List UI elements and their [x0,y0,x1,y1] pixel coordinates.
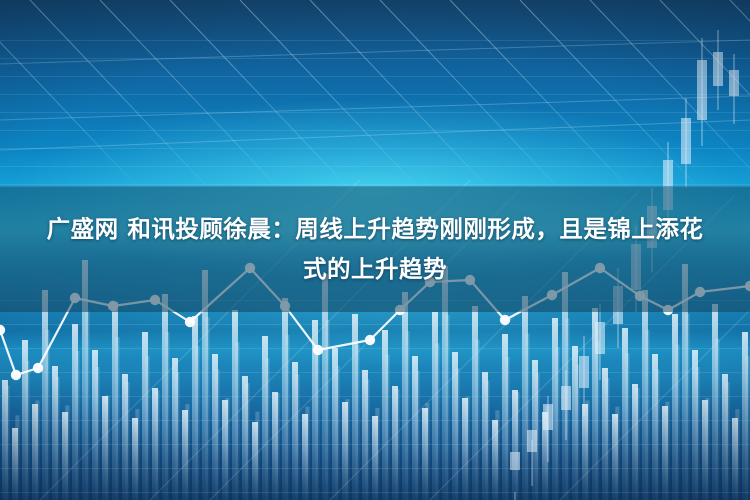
trend-point-marker [313,345,323,355]
headline-block: 广盛网 和讯投顾徐晨：周线上升趋势刚刚形成，且是锦上添花 式的上升趋势 [0,186,750,312]
trend-point-marker [185,317,195,327]
trend-point-marker [365,335,375,345]
headline-line-2: 式的上升趋势 [303,250,447,288]
poster-canvas: 广盛网 和讯投顾徐晨：周线上升趋势刚刚形成，且是锦上添花 式的上升趋势 [0,0,750,500]
trend-point-marker [11,370,21,380]
trend-point-marker [500,315,510,325]
trend-point-marker [0,325,5,335]
headline-line-1: 广盛网 和讯投顾徐晨：周线上升趋势刚刚形成，且是锦上添花 [47,210,704,248]
trend-point-marker [33,363,43,373]
